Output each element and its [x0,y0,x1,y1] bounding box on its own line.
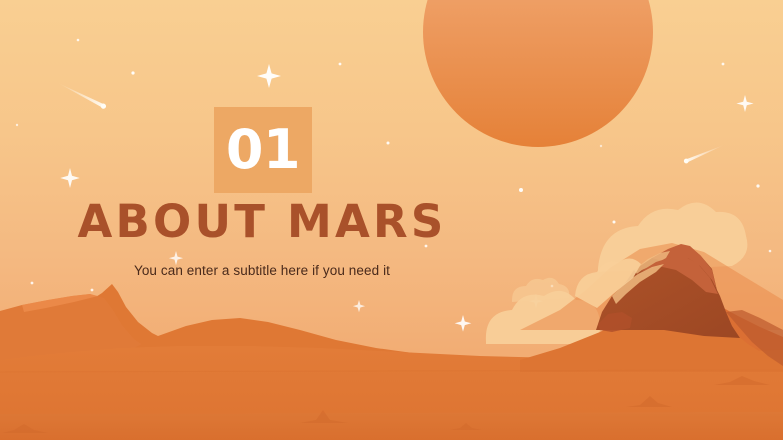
page-title: ABOUT MARS [0,199,524,244]
slide-content-layer: 01 ABOUT MARS You can enter a subtitle h… [0,0,783,440]
section-number-text: 01 [226,123,300,177]
section-number-box: 01 [214,107,312,193]
mars-presentation-slide: 01 ABOUT MARS You can enter a subtitle h… [0,0,783,440]
page-subtitle: You can enter a subtitle here if you nee… [0,263,524,279]
